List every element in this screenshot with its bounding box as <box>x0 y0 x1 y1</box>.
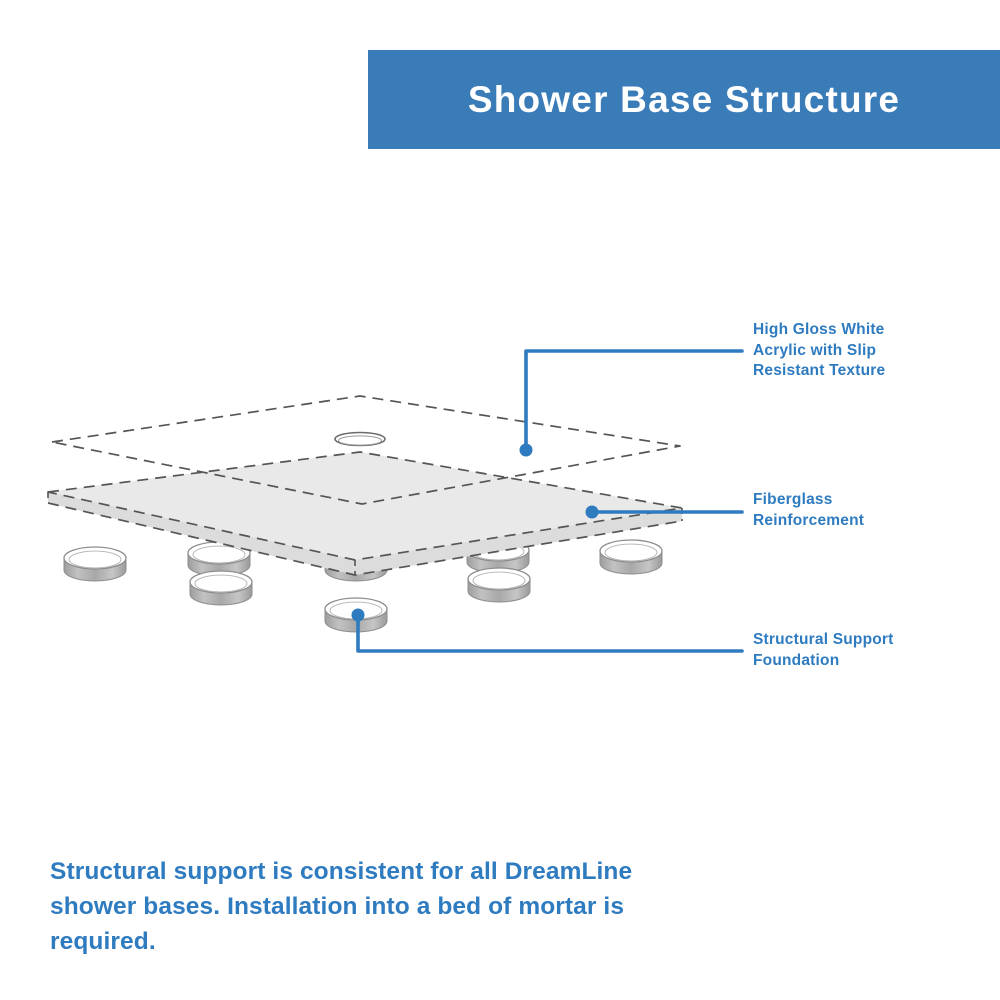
leader-line-support <box>352 609 743 652</box>
leader-dot-support <box>352 609 365 622</box>
callout-label-fiberglass: Fiberglass Reinforcement <box>753 490 983 531</box>
support-ring <box>600 540 662 574</box>
callout-label-support: Structural Support Foundation <box>753 630 983 671</box>
drain-icon <box>335 433 385 446</box>
support-ring <box>190 571 252 605</box>
leader-line-acrylic <box>520 351 743 457</box>
shower-base-structure-infographic: Shower Base Structure <box>0 0 1000 1000</box>
footer-caption: Structural support is consistent for all… <box>50 855 690 959</box>
leader-dot-fiberglass <box>586 506 599 519</box>
support-ring <box>468 568 530 602</box>
leader-dot-acrylic <box>520 444 533 457</box>
callout-label-acrylic: High Gloss White Acrylic with Slip Resis… <box>753 320 983 382</box>
support-ring <box>64 547 126 581</box>
